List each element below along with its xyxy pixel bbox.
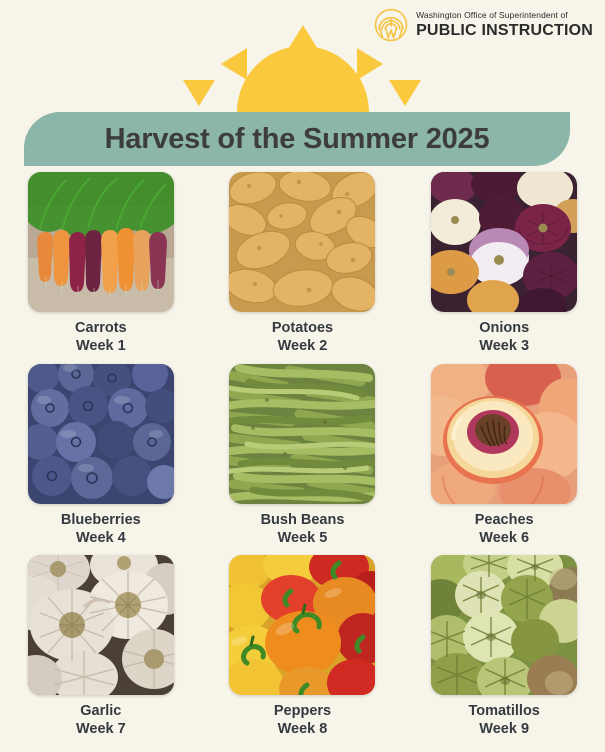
sun-ray-bottom-left [183, 80, 215, 106]
harvest-item-week: Week 6 [475, 529, 534, 547]
harvest-item-caption: Garlic Week 7 [76, 702, 126, 739]
harvest-item-peaches[interactable]: Peaches Week 6 [403, 364, 605, 548]
harvest-item-blueberries[interactable]: Blueberries Week 4 [0, 364, 202, 548]
harvest-item-name: Peaches [475, 512, 534, 528]
onions-photo [431, 172, 577, 312]
harvest-item-week: Week 2 [272, 337, 333, 355]
harvest-item-garlic[interactable]: Garlic Week 7 [0, 555, 202, 739]
harvest-item-caption: Carrots Week 1 [75, 319, 127, 356]
ospi-w-emblem-icon [374, 8, 408, 42]
ospi-logo-text: Washington Office of Superintendent of P… [416, 11, 593, 39]
harvest-item-name: Blueberries [61, 512, 141, 528]
harvest-grid: Carrots Week 1 [0, 172, 605, 739]
harvest-item-week: Week 1 [75, 337, 127, 355]
harvest-item-name: Garlic [80, 703, 121, 719]
harvest-item-carrots[interactable]: Carrots Week 1 [0, 172, 202, 356]
ospi-logo-line-2: PUBLIC INSTRUCTION [416, 23, 593, 39]
harvest-item-week: Week 5 [261, 529, 345, 547]
title-banner: Harvest of the Summer 2025 [24, 112, 570, 166]
carrots-photo [28, 172, 174, 312]
harvest-item-week: Week 8 [274, 720, 331, 738]
harvest-item-name: Peppers [274, 703, 331, 719]
page-title: Harvest of the Summer 2025 [105, 123, 490, 156]
harvest-item-peppers[interactable]: Peppers Week 8 [202, 555, 404, 739]
harvest-item-bush-beans[interactable]: Bush Beans Week 5 [202, 364, 404, 548]
harvest-item-caption: Peaches Week 6 [475, 511, 534, 548]
harvest-item-caption: Onions Week 3 [479, 319, 529, 356]
harvest-item-name: Potatoes [272, 320, 333, 336]
harvest-item-caption: Peppers Week 8 [274, 702, 331, 739]
harvest-item-week: Week 9 [468, 720, 539, 738]
harvest-item-name: Onions [479, 320, 529, 336]
ospi-logo-line-1: Washington Office of Superintendent of [416, 11, 593, 20]
harvest-item-caption: Potatoes Week 2 [272, 319, 333, 356]
peppers-photo [229, 555, 375, 695]
harvest-item-potatoes[interactable]: Potatoes Week 2 [202, 172, 404, 356]
page-header: Washington Office of Superintendent of P… [0, 0, 605, 112]
harvest-item-caption: Tomatillos Week 9 [468, 702, 539, 739]
harvest-item-onions[interactable]: Onions Week 3 [403, 172, 605, 356]
peaches-photo [431, 364, 577, 504]
garlic-photo [28, 555, 174, 695]
tomatillos-photo [431, 555, 577, 695]
bush-beans-photo [229, 364, 375, 504]
sun-ray-left [221, 48, 247, 80]
harvest-item-week: Week 4 [61, 529, 141, 547]
harvest-item-week: Week 3 [479, 337, 529, 355]
sun-ray-right [357, 48, 383, 80]
harvest-item-tomatillos[interactable]: Tomatillos Week 9 [403, 555, 605, 739]
harvest-item-name: Tomatillos [468, 703, 539, 719]
harvest-item-name: Carrots [75, 320, 127, 336]
ospi-logo-lockup: Washington Office of Superintendent of P… [374, 8, 593, 42]
sun-dome [237, 46, 369, 112]
harvest-item-caption: Blueberries Week 4 [61, 511, 141, 548]
harvest-item-caption: Bush Beans Week 5 [261, 511, 345, 548]
harvest-item-name: Bush Beans [261, 512, 345, 528]
harvest-item-week: Week 7 [76, 720, 126, 738]
sun-ray-bottom-right [389, 80, 421, 106]
potatoes-photo [229, 172, 375, 312]
blueberries-photo [28, 364, 174, 504]
